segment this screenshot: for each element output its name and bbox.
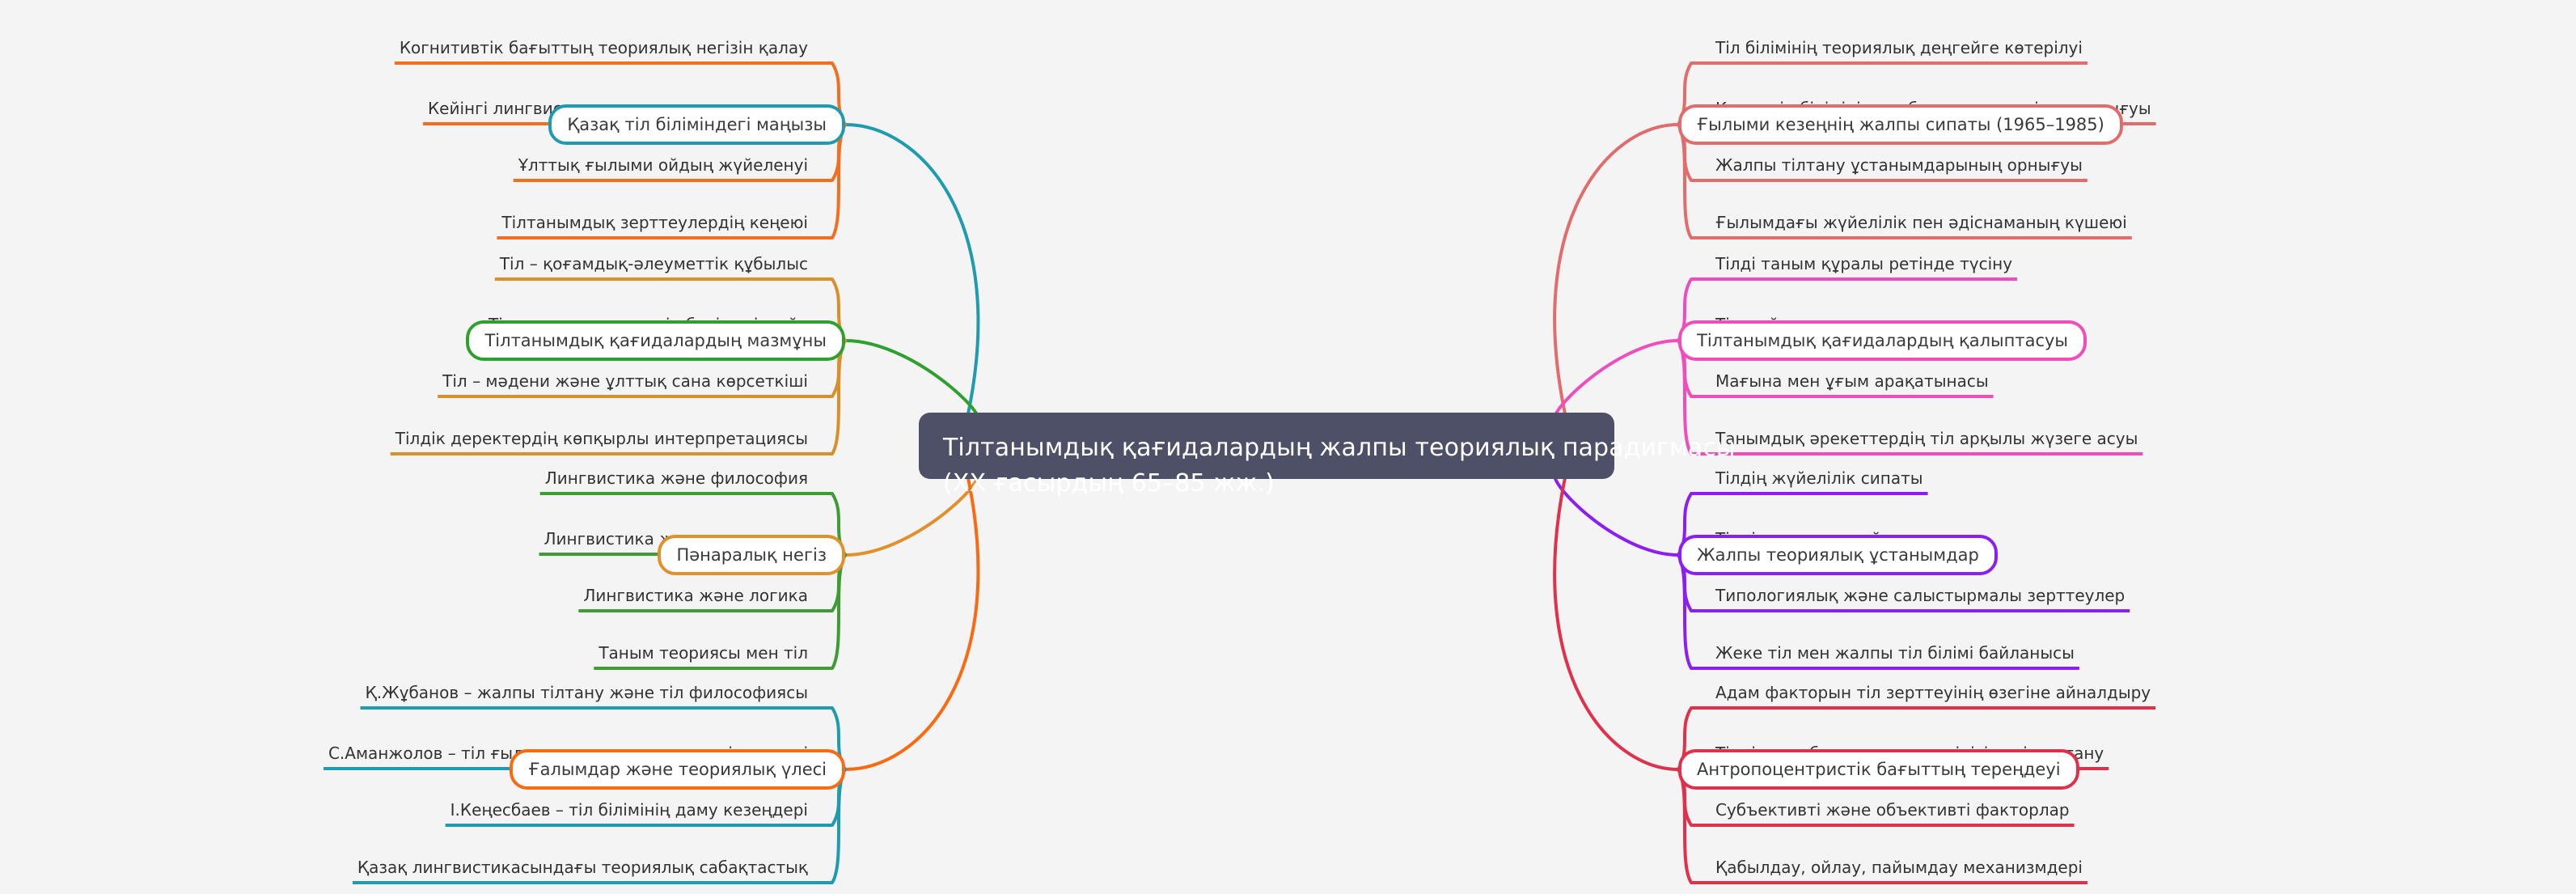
leaf-label[interactable]: Жеке тіл мен жалпы тіл білімі байланысы (1715, 645, 2075, 661)
trunk-link-galymdar-jane-teoriyalyq-ulesi (845, 474, 978, 769)
branch-label: Ғалымдар және теориялық үлесі (528, 760, 827, 779)
leaf-label[interactable]: Субъективті және объективті факторлар (1715, 802, 2070, 818)
leaf-label[interactable]: Таным теориясы мен тіл (599, 645, 808, 661)
branch-node-jalpy-teoriyalyq-ustanymdar[interactable]: Жалпы теориялық ұстанымдар (1678, 535, 1998, 575)
branch-label: Пәнаралық негіз (676, 545, 827, 565)
branch-label: Ғылыми кезеңнің жалпы сипаты (1965–1985) (1697, 115, 2104, 134)
mindmap-canvas: Тілтанымдық қағидалардың жалпы теориялық… (0, 0, 2576, 894)
trunk-link-kazak-til-biliminde-manyzy (845, 125, 978, 417)
branch-label: Жалпы теориялық ұстанымдар (1697, 545, 1979, 565)
branch-label: Антропоцентристік бағыттың тереңдеуі (1697, 760, 2061, 779)
branch-node-gylymi-kezennin-jalpy-sipaty[interactable]: Ғылыми кезеңнің жалпы сипаты (1965–1985) (1678, 104, 2123, 145)
trunk-link-gylymi-kezennin-jalpy-sipaty (1554, 125, 1678, 417)
branch-node-panaralyq-negiz[interactable]: Пәнаралық негіз (658, 535, 845, 575)
leaf-label[interactable]: Қазақ лингвистикасындағы теориялық сабақ… (357, 859, 808, 875)
branch-label: Қазақ тіл біліміндегі маңызы (567, 115, 827, 134)
branch-node-tiltanymdyq-qagidalardyn-mazmuny[interactable]: Тілтанымдық қағидалардың мазмұны (466, 320, 845, 361)
branch-node-kazak-til-biliminde-manyzy[interactable]: Қазақ тіл біліміндегі маңызы (548, 104, 845, 145)
branch-node-tiltanymdyq-qagidalardyn-qalyptasuy[interactable]: Тілтанымдық қағидалардың қалыптасуы (1678, 320, 2087, 361)
central-topic-line-1: Тілтанымдық қағидалардың жалпы теориялық… (943, 430, 1590, 466)
trunk-link-tiltanymdyq-qagidalardyn-mazmuny (845, 341, 978, 420)
leaf-label[interactable]: Типологиялық және салыстырмалы зерттеуле… (1715, 587, 2125, 604)
leaf-label[interactable]: Тілдің жүйелілік сипаты (1715, 470, 1923, 486)
leaf-label[interactable]: Адам факторын тіл зерттеуінің өзегіне ай… (1715, 684, 2151, 701)
leaf-label[interactable]: Жалпы тілтану ұстанымдарының орнығуы (1715, 157, 2083, 173)
leaf-label[interactable]: Ғылымдағы жүйелілік пен әдіснаманың күше… (1715, 214, 2127, 231)
leaf-label[interactable]: Тілтанымдық зерттеулердің кеңеюі (501, 214, 808, 231)
leaf-label[interactable]: Тіл – мәдени және ұлттық сана көрсеткіші (442, 373, 808, 389)
leaf-label[interactable]: Лингвистика және философия (545, 470, 808, 486)
leaf-label[interactable]: І.Кеңесбаев – тіл білімінің даму кезеңде… (450, 802, 808, 818)
leaf-label[interactable]: Қабылдау, ойлау, пайымдау механизмдері (1715, 859, 2083, 875)
leaf-label[interactable]: Қ.Жұбанов – жалпы тілтану және тіл филос… (366, 684, 808, 701)
leaf-label[interactable]: Мағына мен ұғым арақатынасы (1715, 373, 1989, 389)
trunk-link-antropocentristik-bagyttyn-terendeui (1554, 474, 1678, 769)
leaf-label[interactable]: Тілді таным құралы ретінде түсіну (1715, 256, 2012, 272)
branch-label: Тілтанымдық қағидалардың қалыптасуы (1697, 331, 2068, 350)
central-topic-line-2: (XX ғасырдың 65–85 жж.) (943, 466, 1590, 502)
leaf-label[interactable]: Тіл білімінің теориялық деңгейге көтеріл… (1715, 40, 2083, 56)
leaf-label[interactable]: Тіл – қоғамдық-әлеуметтік құбылыс (500, 256, 808, 272)
branch-node-antropocentristik-bagyttyn-terendeui[interactable]: Антропоцентристік бағыттың тереңдеуі (1678, 749, 2079, 790)
branch-label: Тілтанымдық қағидалардың мазмұны (484, 331, 827, 350)
leaf-label[interactable]: Когнитивтік бағыттың теориялық негізін қ… (400, 40, 808, 56)
central-topic-node[interactable]: Тілтанымдық қағидалардың жалпы теориялық… (919, 413, 1614, 479)
branch-node-galymdar-jane-teoriyalyq-ulesi[interactable]: Ғалымдар және теориялық үлесі (510, 749, 845, 790)
leaf-label[interactable]: Лингвистика және логика (583, 587, 808, 604)
leaf-label[interactable]: Тілдік деректердің көпқырлы интерпретаци… (395, 430, 808, 447)
leaf-label[interactable]: Ұлттық ғылыми ойдың жүйеленуі (518, 157, 808, 173)
leaf-label[interactable]: Танымдық әрекеттердің тіл арқылы жүзеге … (1715, 430, 2138, 447)
trunk-link-tiltanymdyq-qagidalardyn-qalyptasuy (1554, 341, 1678, 420)
